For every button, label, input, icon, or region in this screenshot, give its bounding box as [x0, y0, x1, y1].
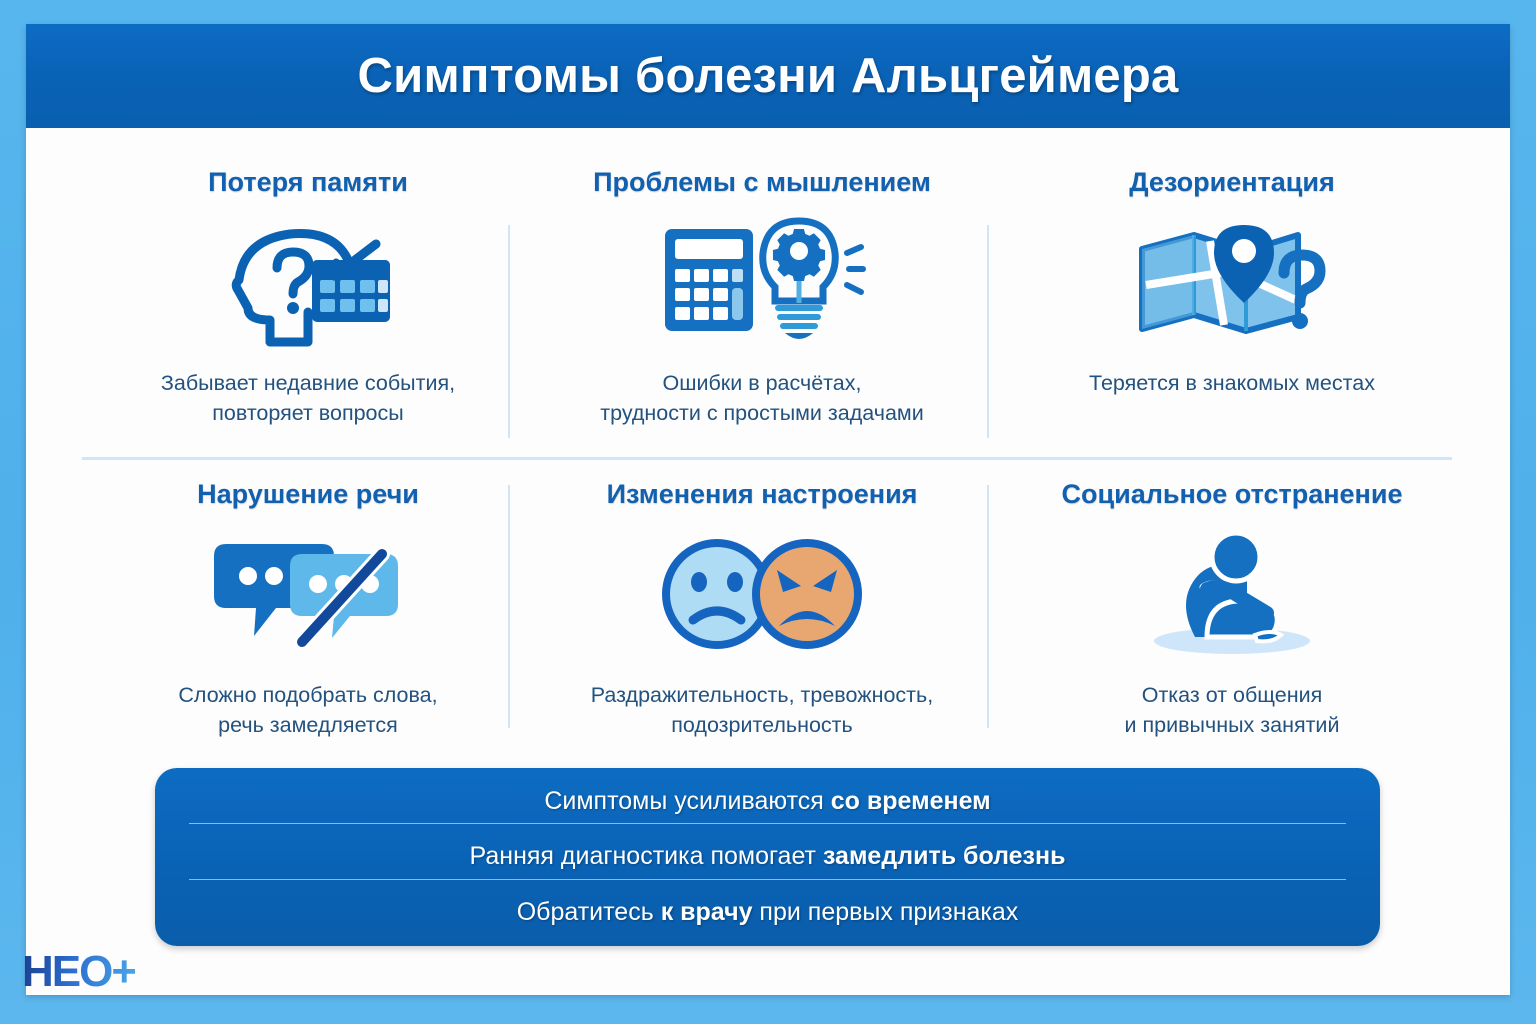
symptom-card-thinking-problems: Проблемы с мышлением — [536, 168, 988, 460]
title-banner: Симптомы болезни Альцгеймера — [26, 24, 1510, 128]
card-title: Изменения настроения — [607, 480, 918, 510]
symptom-card-disorientation: Дезориентация — [1006, 168, 1458, 460]
summary-line-1-bold: со временем — [831, 787, 991, 815]
card-description: Раздражительность, тревожность,подозрите… — [591, 680, 933, 741]
summary-panel: Симптомы усиливаются со временем Ранняя … — [155, 768, 1380, 946]
map-pin-question-icon — [1132, 212, 1332, 352]
symptom-card-social-withdrawal: Социальное отстранение — [1006, 480, 1458, 770]
summary-line-2-normal: Ранняя диагностика помогает — [470, 842, 823, 870]
card-title: Нарушение речи — [197, 480, 419, 510]
card-description: Ошибки в расчётах,трудности с простыми з… — [600, 368, 923, 429]
summary-line-1-normal: Симптомы усиливаются — [544, 787, 830, 815]
speech-bubbles-crossed-icon — [210, 524, 406, 664]
card-title: Проблемы с мышлением — [593, 168, 931, 198]
summary-line-3-normal: Обратитесь — [517, 898, 661, 926]
card-description: Теряется в знакомых местах — [1089, 368, 1375, 399]
page-title: Симптомы болезни Альцгеймера — [358, 48, 1179, 104]
symptom-card-memory-loss: Потеря памяти — [82, 168, 534, 460]
poster-root: Симптомы болезни Альцгеймера Потеря памя… — [0, 0, 1536, 1024]
summary-line-3-normal-2: при первых признаках — [752, 898, 1018, 926]
summary-line-1: Симптомы усиливаются со временем — [155, 781, 1380, 823]
summary-line-2: Ранняя диагностика помогает замедлить бо… — [155, 836, 1380, 878]
card-title: Дезориентация — [1129, 168, 1334, 198]
card-title: Потеря памяти — [208, 168, 408, 198]
summary-line-3: Обратитесь к врачу при первых признаках — [155, 892, 1380, 934]
symptom-card-speech-impairment: Нарушение речи — [82, 480, 534, 770]
symptom-card-mood-changes: Изменения настроения Раздражительность, … — [536, 480, 988, 770]
symptom-grid: Потеря памяти — [56, 150, 1480, 750]
calculator-lightbulb-gear-icon — [657, 212, 867, 352]
person-sitting-alone-icon — [1137, 524, 1327, 664]
card-description: Забывает недавние события,повторяет вопр… — [161, 368, 455, 429]
card-description: Отказ от общенияи привычных занятий — [1125, 680, 1340, 741]
brand-logo: HEO+ — [22, 948, 135, 996]
logo-text: HEO+ — [22, 947, 135, 997]
card-description: Сложно подобрать слова,речь замедляется — [178, 680, 437, 741]
summary-line-2-bold: замедлить болезнь — [823, 842, 1066, 870]
summary-line-3-bold: к врачу — [661, 898, 753, 926]
card-title: Социальное отстранение — [1062, 480, 1403, 510]
head-question-calendar-icon — [208, 212, 408, 352]
sad-angry-faces-icon — [659, 524, 865, 664]
